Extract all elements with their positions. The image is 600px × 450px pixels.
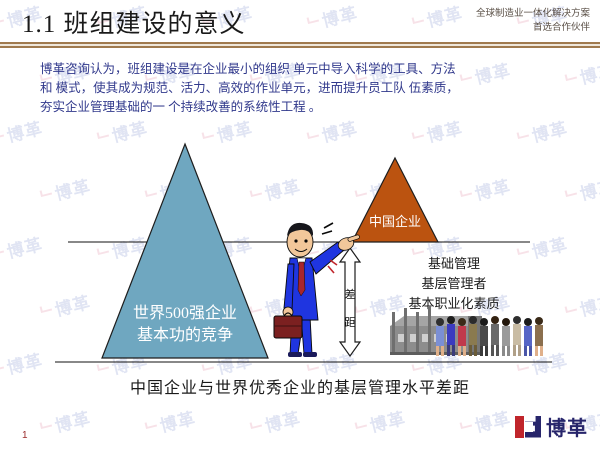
right-text-line-2: 基层管理者 <box>421 276 486 291</box>
gap-char-top: 差 <box>345 287 356 301</box>
people-group-icon <box>436 316 543 356</box>
right-text-line-1: 基础管理 <box>428 256 480 271</box>
world500-pyramid <box>102 144 268 358</box>
brand-tagline: 全球制造业一体化解决方案 首选合作伙伴 <box>476 7 590 35</box>
watermark-tile: ᄂ博革 <box>351 404 408 441</box>
gap-char-bottom: 距 <box>345 316 356 329</box>
diagram-caption: 中国企业与世界优秀企业的基层管理水平差距 <box>0 374 600 398</box>
intro-paragraph: 博革咨询认为，班组建设是在企业最小的组织 单元中导入科学的工具、方法 和 模式，… <box>40 60 562 117</box>
page-number: 1 <box>22 430 28 441</box>
intro-line-1: 博革咨询认为，班组建设是在企业最小的组织 单元中导入科学的工具、方法 <box>40 60 562 79</box>
watermark-tile: ᄂ博革 <box>246 404 303 441</box>
slide-header: 1.1 班组建设的意义 全球制造业一体化解决方案 首选合作伙伴 <box>0 0 600 46</box>
watermark-tile: ᄂ博革 <box>561 56 600 93</box>
header-divider <box>0 42 600 48</box>
logo-mark-icon <box>515 416 541 438</box>
diagram-svg: 世界500强企业 基本功的竞争 中国企业 差 距 基础管理 基层管理者 基本职业… <box>0 130 600 390</box>
world500-label-line1: 世界500强企业 <box>133 304 237 322</box>
intro-line-2: 和 模式，使其成为规范、活力、高效的作业单元，进而提升员工队 伍素质， <box>40 79 562 98</box>
brand-logo: 博革 <box>515 412 588 441</box>
comparison-diagram: 世界500强企业 基本功的竞争 中国企业 差 距 基础管理 基层管理者 基本职业… <box>0 130 600 390</box>
page-title: 1.1 班组建设的意义 <box>22 4 246 40</box>
china-pyramid <box>352 158 438 242</box>
gap-double-arrow <box>340 248 360 356</box>
tagline-line-1: 全球制造业一体化解决方案 <box>476 7 590 21</box>
tagline-line-2: 首选合作伙伴 <box>476 21 590 35</box>
slide-canvas: ᄂ博革ᄂ博革ᄂ博革ᄂ博革ᄂ博革ᄂ博革ᄂ博革ᄂ博革ᄂ博革ᄂ博革ᄂ博革ᄂ博革ᄂ博革ᄂ… <box>0 0 600 450</box>
world500-label-line2: 基本功的竞争 <box>137 326 233 344</box>
intro-line-3: 夯实企业管理基础的一 个持续改善的系统性工程 。 <box>40 98 562 117</box>
watermark-tile: ᄂ博革 <box>456 404 513 441</box>
watermark-tile: ᄂ博革 <box>141 404 198 441</box>
logo-text: 博革 <box>546 412 588 441</box>
right-text-line-3: 基本职业化素质 <box>408 296 499 311</box>
watermark-tile: ᄂ博革 <box>36 404 93 441</box>
china-label: 中国企业 <box>369 214 421 229</box>
